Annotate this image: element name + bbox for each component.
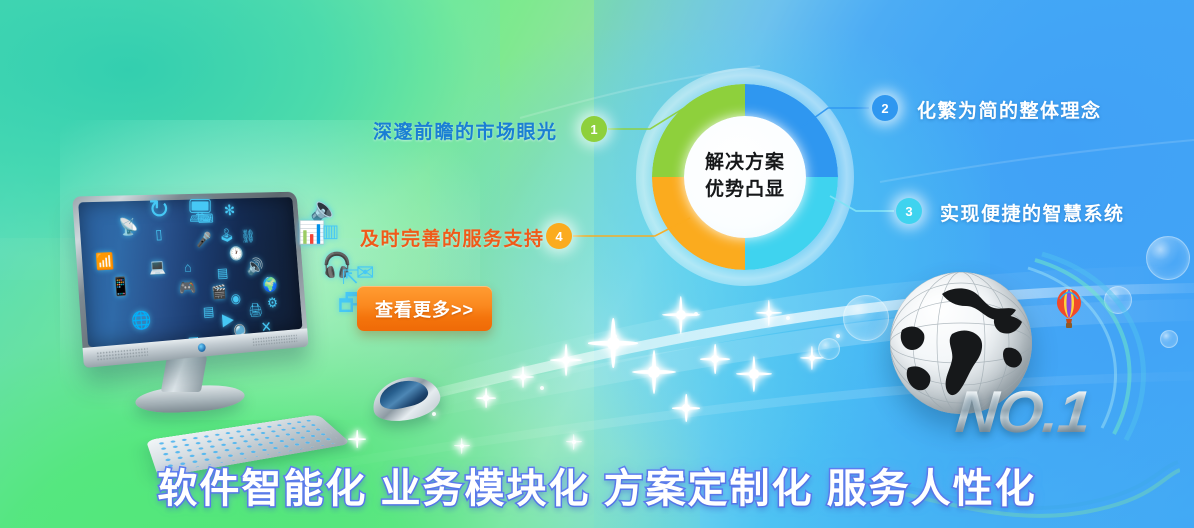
feature-label-2[interactable]: 化繁为简的整体理念 <box>917 96 1102 123</box>
connector-line-2 <box>800 108 869 128</box>
badge-4[interactable]: 4 <box>546 223 572 249</box>
connector-line-1 <box>608 108 684 129</box>
connector-lines <box>0 0 1194 528</box>
connector-line-3 <box>830 196 894 211</box>
feature-label-4[interactable]: 及时完善的服务支持 <box>360 224 545 251</box>
feature-label-3[interactable]: 实现便捷的智慧系统 <box>940 199 1125 226</box>
badge-3[interactable]: 3 <box>896 198 922 224</box>
badge-1[interactable]: 1 <box>581 116 607 142</box>
badge-2[interactable]: 2 <box>872 95 898 121</box>
feature-label-1[interactable]: 深邃前瞻的市场眼光 <box>373 117 558 144</box>
banner-tagline: 软件智能化 业务模块化 方案定制化 服务人性化 <box>0 456 1194 514</box>
promo-banner: 📶 📡 📱 💻 ▯ 🌐 ◎ 🎮 ⌂ 🎤 ⌨ 🕹 ⛓ ✻ 🕐 ▤ 🔊 🎬 ◉ <box>0 0 1194 528</box>
view-more-button[interactable]: 查看更多>> <box>357 286 492 331</box>
connector-line-4 <box>573 218 690 236</box>
